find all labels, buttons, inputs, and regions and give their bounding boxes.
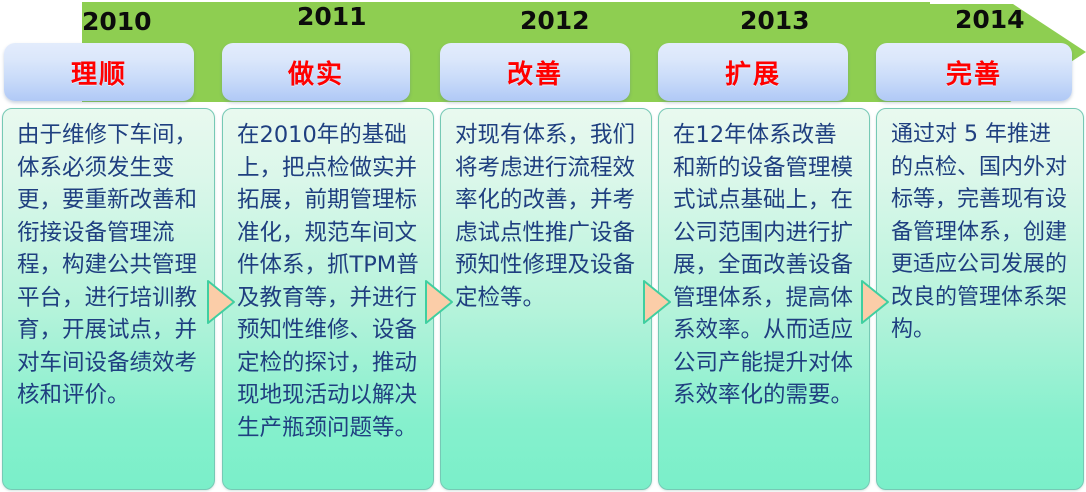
year-label-2010: 2010 <box>82 9 152 34</box>
stage-card-body-2013: 在12年体系改善和新的设备管理模式试点基础上，在公司范围内进行扩展，全面改善设备… <box>659 119 869 412</box>
year-label-2011: 2011 <box>297 4 367 29</box>
stage-card-2014[interactable]: 通过对 5 年推进的点检、国内外对标等，完善现有设备管理体系，创建更适应公司发展… <box>876 108 1084 490</box>
stage-card-2010[interactable]: 由于维修下车间，体系必须发生变更，要重新改善和衔接设备管理流程，构建公共管理平台… <box>2 108 215 490</box>
stage-pill-2013[interactable]: 扩展 <box>658 43 848 101</box>
year-label-2013: 2013 <box>740 8 810 33</box>
stage-pill-2010[interactable]: 理顺 <box>4 43 194 101</box>
stage-pill-label-2012: 改善 <box>507 54 563 91</box>
stage-pill-label-2013: 扩展 <box>725 54 781 91</box>
stage-card-body-2012: 对现有体系，我们将考虑进行流程效率化的改善，并考虑试点性推广设备预知性修理及设备… <box>441 119 651 314</box>
connector-arrow-right-icon-3 <box>642 279 672 325</box>
stage-card-2013[interactable]: 在12年体系改善和新的设备管理模式试点基础上，在公司范围内进行扩展，全面改善设备… <box>658 108 870 490</box>
year-label-2014: 2014 <box>955 7 1025 32</box>
arrow-tip-mask <box>930 0 1086 4</box>
stage-pill-label-2011: 做实 <box>288 54 344 91</box>
stage-card-2012[interactable]: 对现有体系，我们将考虑进行流程效率化的改善，并考虑试点性推广设备预知性修理及设备… <box>440 108 652 490</box>
stage-card-2011[interactable]: 在2010年的基础上，把点检做实并拓展，前期管理标准化，规范车间文件体系，抓TP… <box>222 108 434 490</box>
connector-arrow-right-icon-2 <box>424 279 454 325</box>
connector-arrow-right-icon-4 <box>860 279 890 325</box>
year-label-2012: 2012 <box>520 8 590 33</box>
stage-card-body-2010: 由于维修下车间，体系必须发生变更，要重新改善和衔接设备管理流程，构建公共管理平台… <box>3 119 214 412</box>
stage-pill-2014[interactable]: 完善 <box>876 43 1072 101</box>
stage-pill-label-2014: 完善 <box>946 54 1002 91</box>
stage-pill-2011[interactable]: 做实 <box>222 43 410 101</box>
stage-pill-2012[interactable]: 改善 <box>440 43 630 101</box>
connector-arrow-right-icon-1 <box>206 279 236 325</box>
timeline-roadmap: 2010 2011 2012 2013 2014 理顺 做实 改善 扩展 完善 … <box>0 0 1086 492</box>
stage-card-body-2011: 在2010年的基础上，把点检做实并拓展，前期管理标准化，规范车间文件体系，抓TP… <box>223 119 433 444</box>
stage-pill-label-2010: 理顺 <box>71 54 127 91</box>
stage-card-body-2014: 通过对 5 年推进的点检、国内外对标等，完善现有设备管理体系，创建更适应公司发展… <box>877 119 1083 347</box>
